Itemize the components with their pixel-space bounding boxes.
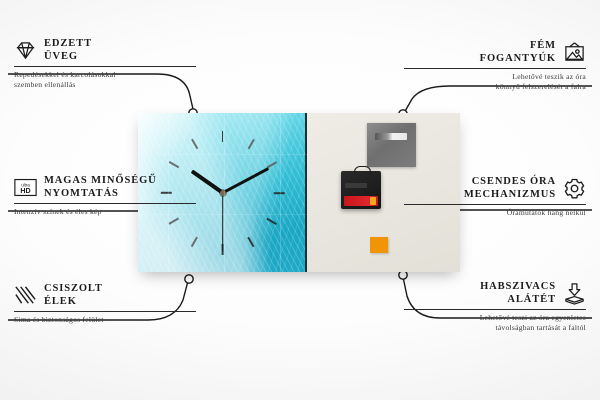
callout-title-line1: CSENDES ÓRA (472, 176, 556, 187)
mechanism-loop (354, 166, 371, 175)
callout-polished-edges: CSISZOLT ÉLEK Sima és biztonságos felüle… (14, 283, 196, 325)
callout-silent-mechanism: CSENDES ÓRA MECHANIZMUS Óramutatók hang … (404, 176, 586, 218)
divider (404, 204, 586, 205)
divider (404, 309, 586, 310)
callout-title-line2: ALÁTÉT (507, 294, 556, 305)
diagonal-lines-icon (14, 284, 37, 307)
callout-metal-handles: FÉM FOGANTYÚK Lehetővé teszik az óra kön… (404, 40, 586, 91)
infographic-stage: EDZETT ÜVEG Repedésekkel és karcolásokka… (0, 0, 600, 400)
callout-foam-backing: HABSZIVACS ALÁTÉT Lehetővé teszi az óra … (404, 281, 586, 332)
divider (14, 66, 196, 67)
battery-terminal (370, 197, 376, 205)
callout-title-line2: MECHANIZMUS (464, 189, 556, 200)
callout-sub-line1: Óramutatók hang nélkül (507, 208, 586, 217)
callout-sub-line1: Lehetővé teszik az óra (512, 72, 586, 81)
callout-title-line2: ÜVEG (44, 51, 78, 62)
callout-sub-line1: Sima és biztonságos felület (14, 315, 104, 324)
callout-sub-line2: távolságban tartását a faltól (495, 323, 586, 332)
svg-text:ultra: ultra (21, 183, 30, 188)
svg-text:HD: HD (20, 188, 30, 195)
callout-sub-line2: könnyű felszerelését a falra (496, 82, 586, 91)
minute-hand (222, 167, 269, 194)
press-down-pad-icon (563, 282, 586, 305)
callout-title-line1: FÉM (530, 40, 556, 51)
foam-pad (370, 237, 388, 253)
callout-sub-line1: Repedésekkel és karcolásokkal (14, 70, 116, 79)
callout-high-quality-print: ultra HD MAGAS MINŐSÉGŰ NYOMTATÁS Intenz… (14, 175, 196, 217)
battery (344, 196, 378, 206)
hand-cap (220, 190, 226, 196)
callout-tempered-glass: EDZETT ÜVEG Repedésekkel és karcolásokka… (14, 38, 196, 89)
callout-title-line1: HABSZIVACS (480, 281, 556, 292)
callout-sub-line1: Intenzív színek és éles kép (14, 207, 102, 216)
clock-mechanism (341, 171, 381, 209)
callout-title-line1: CSISZOLT (44, 283, 103, 294)
callout-title-line2: NYOMTATÁS (44, 188, 119, 199)
callout-title-line1: MAGAS MINŐSÉGŰ (44, 175, 157, 186)
divider (14, 203, 196, 204)
picture-frame-hanger-icon (563, 41, 586, 64)
hanger-slot (375, 133, 407, 140)
callout-title-line2: ÉLEK (44, 296, 77, 307)
ultra-hd-icon: ultra HD (14, 176, 37, 199)
divider (14, 311, 196, 312)
metal-hanger-plate (367, 123, 416, 167)
gear-icon (563, 177, 586, 200)
mechanism-detail (345, 183, 367, 188)
second-hand (222, 193, 223, 251)
callout-title-line2: FOGANTYÚK (480, 53, 556, 64)
callout-title-line1: EDZETT (44, 38, 92, 49)
callout-sub-line1: Lehetővé teszi az óra egyenletes (480, 313, 586, 322)
callout-sub-line2: szemben ellenállás (14, 80, 76, 89)
divider (404, 68, 586, 69)
diamond-icon (14, 39, 37, 62)
